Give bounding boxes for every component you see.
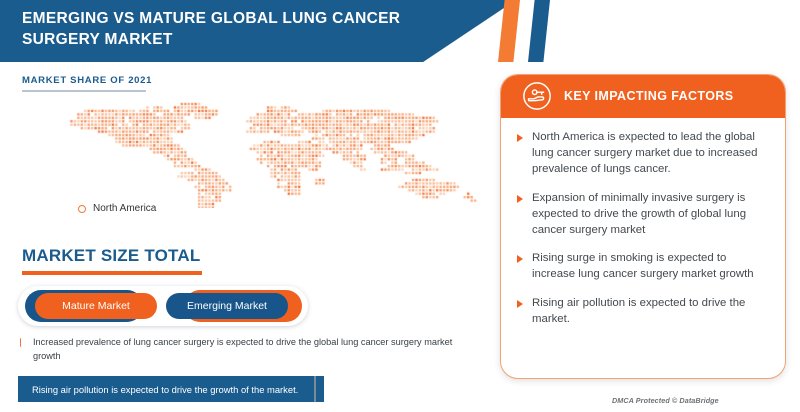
key-impacting-factors-header: KEY IMPACTING FACTORS (500, 74, 786, 118)
pill-emerging-market[interactable]: Emerging Market (166, 290, 302, 322)
page-title: EMERGING VS MATURE GLOBAL LUNG CANCER SU… (22, 9, 452, 50)
key-impacting-factors-title: KEY IMPACTING FACTORS (564, 89, 734, 103)
banner-accent-stripe (314, 376, 317, 402)
left-bullet-text: Increased prevalence of lung cancer surg… (33, 336, 472, 364)
market-share-divider (22, 90, 146, 92)
header-accent-slash-blue (528, 0, 550, 62)
circle-marker-icon (78, 205, 86, 213)
list-item: North America is expected to lead the gl… (517, 129, 769, 178)
map-legend: North America (78, 203, 156, 214)
triangle-bullet-icon (517, 134, 523, 142)
triangle-bullet-icon (20, 338, 26, 347)
triangle-bullet-icon (517, 300, 523, 308)
pill-mature-label: Mature Market (35, 293, 157, 319)
key-impacting-factors-panel: KEY IMPACTING FACTORS North America is e… (500, 74, 786, 379)
market-share-label: MARKET SHARE OF 2021 (22, 75, 152, 86)
page-header: EMERGING VS MATURE GLOBAL LUNG CANCER SU… (0, 0, 800, 62)
market-size-total-underline (22, 271, 202, 275)
left-bullet-item: Increased prevalence of lung cancer surg… (20, 336, 472, 364)
list-item-text: Rising surge in smoking is expected to i… (532, 250, 769, 282)
list-item-text: North America is expected to lead the gl… (532, 129, 769, 178)
triangle-bullet-icon (517, 255, 523, 263)
list-item: Rising surge in smoking is expected to i… (517, 250, 769, 282)
triangle-bullet-icon (517, 195, 523, 203)
pill-mature-market[interactable]: Mature Market (25, 290, 157, 322)
hand-holding-key-icon (522, 81, 552, 111)
copyright-notice: DMCA Protected © DataBridge (612, 396, 719, 405)
list-item-text: Rising air pollution is expected to driv… (532, 295, 769, 327)
key-impacting-factors-list: North America is expected to lead the gl… (501, 123, 786, 339)
list-item-text: Expansion of minimally invasive surgery … (532, 190, 769, 239)
pill-emerging-label: Emerging Market (166, 293, 288, 319)
world-map (60, 96, 490, 208)
bottom-banner-text: Rising air pollution is expected to driv… (32, 384, 298, 395)
market-pills-container: Mature Market Emerging Market (18, 286, 308, 326)
list-item: Expansion of minimally invasive surgery … (517, 190, 769, 239)
bottom-banner: Rising air pollution is expected to driv… (18, 376, 324, 402)
map-legend-label: North America (93, 203, 156, 214)
world-map-canvas (60, 96, 490, 208)
list-item: Rising air pollution is expected to driv… (517, 295, 769, 327)
market-size-total-title: MARKET SIZE TOTAL (22, 246, 200, 266)
